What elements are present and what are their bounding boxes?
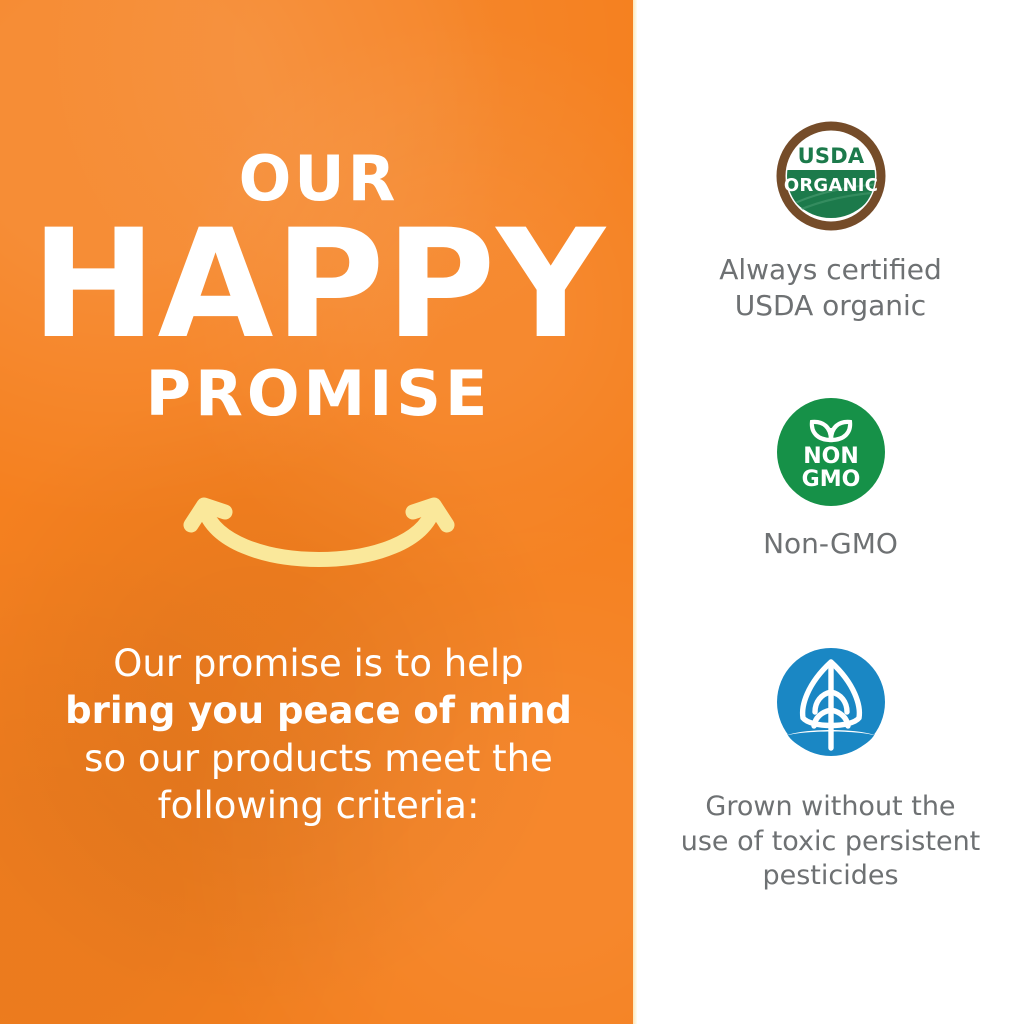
badge-no-pesticides: Grown without the use of toxic persisten… (637, 648, 1024, 894)
right-badges-panel: USDA ORGANIC Always certified USDA organ… (637, 0, 1024, 1024)
smile-arc-icon (169, 485, 469, 595)
badge-pesticides-caption-line-3: pesticides (762, 860, 898, 891)
badge-pesticides-caption-line-1: Grown without the (705, 791, 955, 822)
usda-seal-top-text: USDA (797, 144, 864, 168)
smile-icon-wrap (0, 485, 637, 595)
badge-usda-caption-line-2: USDA organic (735, 289, 926, 322)
badge-usda-caption: Always certified USDA organic (719, 252, 942, 324)
promise-line-2: bring you peace of mind (30, 687, 607, 734)
non-gmo-line-2: GMO (801, 467, 860, 492)
usda-seal-bottom-text: ORGANIC (783, 175, 877, 196)
badge-non-gmo-caption: Non-GMO (763, 526, 898, 562)
badge-pesticides-caption-line-2: use of toxic persistent (681, 826, 981, 857)
non-gmo-badge-icon: NON GMO (777, 398, 885, 506)
promise-line-1: Our promise is to help (30, 640, 607, 687)
badge-non-gmo-caption-line-1: Non-GMO (763, 527, 898, 560)
left-orange-panel: OUR HAPPY PROMISE Our promise is to help… (0, 0, 637, 1024)
badge-pesticides-caption: Grown without the use of toxic persisten… (681, 790, 981, 894)
non-gmo-line-1: NON (803, 444, 859, 469)
leaf-tree-badge-icon (773, 648, 889, 764)
promise-line-4: following criteria: (30, 782, 607, 829)
headline-block: OUR HAPPY PROMISE (0, 148, 637, 425)
badge-usda-organic: USDA ORGANIC Always certified USDA organ… (637, 118, 1024, 324)
headline-line-happy: HAPPY (0, 214, 637, 357)
usda-organic-seal-icon: USDA ORGANIC (773, 118, 889, 234)
promise-paragraph: Our promise is to help bring you peace o… (30, 640, 607, 829)
badge-non-gmo: NON GMO Non-GMO (637, 398, 1024, 562)
promise-line-3: so our products meet the (30, 735, 607, 782)
promise-infographic: OUR HAPPY PROMISE Our promise is to help… (0, 0, 1024, 1024)
badge-usda-caption-line-1: Always certified (719, 253, 942, 286)
